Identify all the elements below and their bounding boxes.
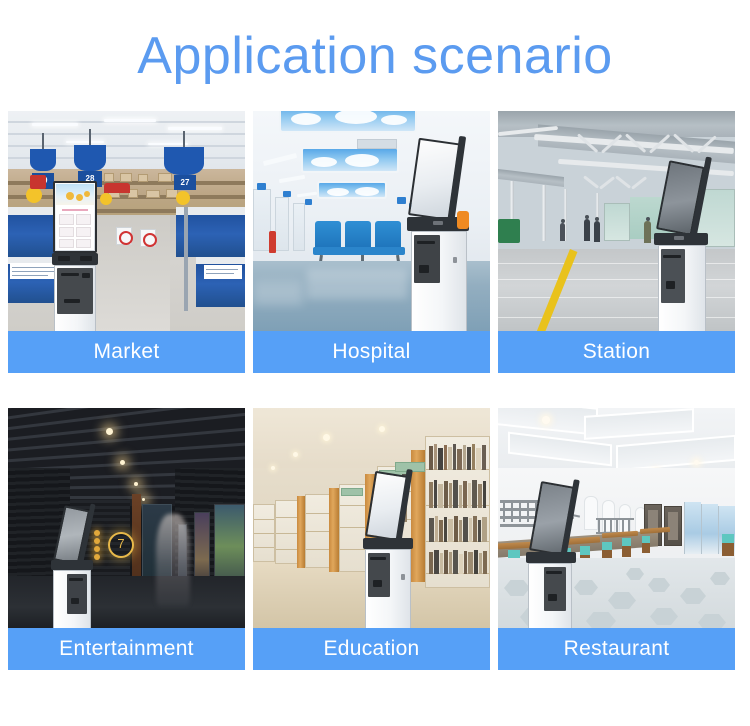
market-lane-bag [30,149,56,171]
market-ceiling-light [66,141,104,143]
market-kiosk [52,181,98,331]
entertainment-wood-column [132,494,141,580]
restaurant-floor-tile [710,572,730,585]
market-ceiling-light [32,123,78,126]
entertainment-kiosk [48,504,106,628]
market-scene-image: 29 28 27 [8,111,245,331]
kiosk-screen-tile [76,239,91,248]
market-lane-bag [164,147,204,175]
restaurant-floor-tile [648,578,670,592]
market-yellow-sign [100,193,112,205]
education-downlight [379,426,385,432]
restaurant-cabinet [664,506,682,546]
restaurant-downlight [542,416,550,424]
kiosk-card-slot [548,594,557,601]
scenario-card-station[interactable]: Station [498,111,735,373]
station-traveller [560,223,565,241]
scenario-card-market[interactable]: 29 28 27 [8,111,245,373]
kiosk-coin-slot [64,299,80,303]
restaurant-floor-tile [650,608,678,625]
station-scene-image [498,111,735,331]
scenario-card-hospital[interactable]: Hospital [253,111,490,373]
hospital-door [275,197,289,251]
restaurant-window [701,504,718,554]
market-shelf-box [158,173,172,182]
education-scene-image [253,408,490,628]
scenario-grid: 29 28 27 [8,111,738,670]
market-shelf-box [146,190,160,198]
hospital-wall-sign [257,183,266,190]
kiosk-printer-slot [69,578,83,581]
entertainment-scene-image: 7 [8,408,245,628]
entertainment-downlight [134,482,138,486]
education-bookshelf [275,500,299,564]
kiosk-screen-tile [76,227,91,237]
station-traveller [584,219,590,241]
education-shelf-end-panel [329,488,339,572]
market-ceiling-light [104,119,156,122]
kiosk-printer-slot [370,557,386,560]
page-title: Application scenario [0,26,750,86]
hospital-wall-sign [283,191,291,197]
market-shelf-box [120,173,132,182]
entertainment-downlight [120,460,125,465]
kiosk-control-shelf [51,560,93,570]
hospital-chair-seat [313,247,405,255]
scenario-card-entertainment[interactable]: 7 [8,408,245,670]
kiosk-control-shelf [363,538,413,549]
education-book-row [429,548,487,574]
market-counter-sign [204,265,242,279]
restaurant-chair [642,536,650,553]
market-floor-sign [140,229,156,247]
education-downlight [271,466,275,470]
scenario-label-hospital: Hospital [253,331,490,373]
market-ceiling-light [148,143,188,145]
market-shelf-box [138,174,148,182]
market-trolley-rail [184,207,188,311]
kiosk-cash-slot [82,273,90,278]
entertainment-downlight [106,428,113,435]
kiosk-door-lock [401,574,405,580]
kiosk-card-reader [80,256,92,261]
market-shelf-box [104,173,114,182]
scenario-label-entertainment: Entertainment [8,628,245,670]
market-red-sign [30,175,46,189]
restaurant-chair [622,538,631,557]
hospital-scene-image [253,111,490,331]
hospital-wall-sign [305,199,312,205]
kiosk-screen-banner [56,184,94,205]
station-bus [498,219,520,243]
education-downlight [323,434,330,441]
market-yellow-sign [26,187,42,203]
restaurant-downlight [694,460,699,465]
scenario-card-restaurant[interactable]: Restaurant [498,408,735,670]
station-column [542,185,546,241]
hospital-floor-reflection [253,281,303,305]
kiosk-door-lock [453,257,457,263]
kiosk-screen-tile [76,214,91,225]
kiosk-printer-slot [417,241,435,244]
scenario-card-education[interactable]: Education [253,408,490,670]
hospital-door [293,203,305,251]
hospital-floor-reflection [307,269,407,299]
restaurant-scene-image [498,408,735,628]
education-book-row [429,478,487,508]
kiosk-scanner-window [58,256,70,261]
education-bookshelf [305,494,331,568]
restaurant-floor-tile [698,614,726,628]
restaurant-floor-tile [586,612,616,628]
hospital-waiting-chair [315,221,341,249]
market-promo-tent [104,183,130,193]
restaurant-kiosk [524,480,590,628]
hospital-waiting-chair [375,221,401,249]
restaurant-window [684,502,701,554]
kiosk-scanner-window [674,236,684,240]
hospital-ceiling-vent [357,139,397,149]
hospital-sky-ceiling-panel [279,111,417,133]
kiosk-control-shelf [526,552,576,563]
hospital-sky-ceiling-panel [301,147,399,173]
kiosk-screen-row [62,209,88,211]
entertainment-floor [8,576,245,628]
kiosk-card-slot [71,598,79,604]
hospital-fire-extinguisher [269,231,276,253]
kiosk-card-slot [373,580,382,587]
entertainment-seven-sign: 7 [108,532,134,558]
entertainment-walking-person [156,514,190,606]
education-kiosk [361,470,423,628]
application-scenario-page: Application scenario [0,0,750,726]
scenario-label-restaurant: Restaurant [498,628,735,670]
market-lane-bag [74,145,106,171]
kiosk-receipt-slot [61,273,79,276]
kiosk-card-slot [666,281,675,289]
hospital-sky-ceiling-panel [317,181,387,199]
restaurant-chair [722,534,734,556]
education-downlight [293,452,298,457]
market-yellow-sign [176,191,190,205]
kiosk-card-slot [419,265,429,273]
education-book-row [429,442,487,470]
kiosk-printer-slot [546,571,562,574]
restaurant-floor-tile [680,588,706,604]
hospital-waiting-chair [345,221,371,249]
market-ceiling-light [168,127,222,130]
education-shelf-end-panel [297,496,305,568]
kiosk-ticket-slot [663,255,681,258]
market-counter-top [196,257,245,264]
scenario-label-station: Station [498,331,735,373]
market-lane-number: 27 [174,178,196,187]
education-book-row [429,514,487,542]
restaurant-floor-tile [608,592,636,609]
entertainment-downlight [142,498,145,501]
market-floor-sign [116,227,132,245]
hospital-kiosk [405,137,475,331]
kiosk-screen-content [56,184,94,250]
kiosk-screen-tile [59,214,74,225]
station-storefront-glass [604,203,630,241]
kiosk-screen-tile [59,227,74,237]
education-bookshelf [253,504,275,562]
education-shelf-placard [341,488,363,496]
station-traveller [594,221,600,242]
kiosk-scanner-window [433,221,443,225]
restaurant-floor-tile [626,568,644,580]
kiosk-handset [457,211,469,229]
station-kiosk [650,159,718,331]
kiosk-screen-tile [59,239,74,248]
scenario-label-education: Education [253,628,490,670]
scenario-label-market: Market [8,331,245,373]
